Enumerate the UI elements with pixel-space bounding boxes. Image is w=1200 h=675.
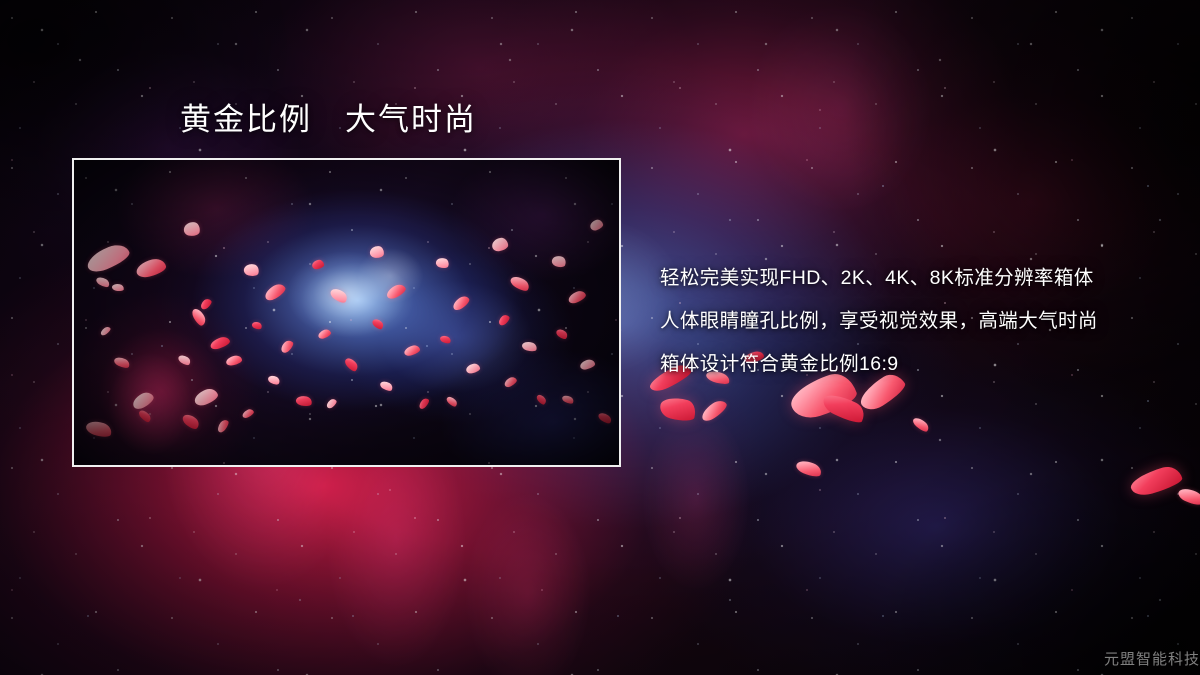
petal: [192, 386, 219, 407]
petal: [911, 415, 931, 433]
petal: [535, 393, 547, 406]
petal: [597, 411, 613, 425]
body-text-line: 箱体设计符合黄金比例16:9: [660, 343, 1180, 386]
petal: [99, 325, 111, 336]
petal: [209, 335, 231, 351]
petal: [451, 294, 472, 312]
presentation-slide: 黄金比例 大气时尚 轻松完美实现FHD、2K、4K、8K标准分辨率箱体人体眼睛瞳…: [0, 0, 1200, 675]
body-text-line: 轻松完美实现FHD、2K、4K、8K标准分辨率箱体: [660, 257, 1180, 300]
petal: [251, 320, 263, 330]
petal: [567, 289, 587, 305]
petal: [243, 262, 260, 277]
framed-image-nebula: [74, 160, 619, 465]
petal: [820, 389, 868, 426]
petal: [343, 356, 360, 373]
framed-image-starfield-bright: [74, 160, 619, 465]
petal: [181, 412, 202, 432]
petal: [445, 395, 458, 408]
body-text: 轻松完美实现FHD、2K、4K、8K标准分辨率箱体人体眼睛瞳孔比例，享受视觉效果…: [660, 257, 1180, 386]
petal: [1128, 463, 1184, 498]
petal: [328, 286, 349, 305]
petal: [317, 328, 332, 340]
petal: [658, 394, 698, 424]
petal: [503, 375, 518, 388]
petal: [509, 274, 532, 294]
petal: [216, 418, 231, 434]
petal: [369, 245, 384, 258]
petal: [111, 283, 124, 292]
body-text-line: 人体眼睛瞳孔比例，享受视觉效果，高端大气时尚: [660, 300, 1180, 343]
watermark: 元盟智能科技: [1104, 648, 1200, 669]
petal: [521, 340, 538, 353]
petal: [795, 458, 824, 480]
petal: [551, 254, 568, 269]
petal: [241, 408, 255, 420]
petal: [135, 257, 168, 280]
petal: [555, 327, 569, 341]
petal: [262, 281, 287, 302]
petal: [84, 240, 132, 275]
framed-image-core-glow: [74, 160, 619, 465]
petal: [95, 275, 111, 289]
petal: [497, 313, 511, 327]
petal: [177, 353, 192, 367]
petal: [279, 338, 295, 354]
petal: [491, 237, 509, 252]
petal: [84, 418, 113, 439]
petal: [403, 344, 421, 357]
petal: [295, 394, 313, 407]
petal: [1176, 485, 1200, 507]
framed-image-vignette: [74, 160, 619, 465]
petal: [311, 259, 324, 270]
framed-image: [72, 158, 621, 467]
petal: [113, 355, 131, 370]
petal: [183, 221, 201, 237]
framed-image-starfield-small: [74, 160, 619, 465]
petal: [190, 307, 207, 328]
petal: [439, 334, 452, 345]
petal: [199, 297, 213, 311]
petal: [385, 282, 408, 301]
petal: [465, 363, 481, 375]
petal: [379, 379, 394, 392]
petal: [561, 394, 575, 406]
petal: [130, 390, 156, 412]
petal: [579, 358, 596, 370]
petal: [699, 397, 729, 423]
slide-title: 黄金比例 大气时尚: [180, 101, 477, 138]
petal: [137, 408, 152, 424]
petal: [371, 317, 385, 331]
petal: [417, 397, 430, 411]
petal: [225, 354, 243, 366]
petal: [325, 397, 338, 409]
petal: [589, 218, 604, 232]
petal: [267, 374, 281, 387]
petal: [435, 256, 450, 270]
